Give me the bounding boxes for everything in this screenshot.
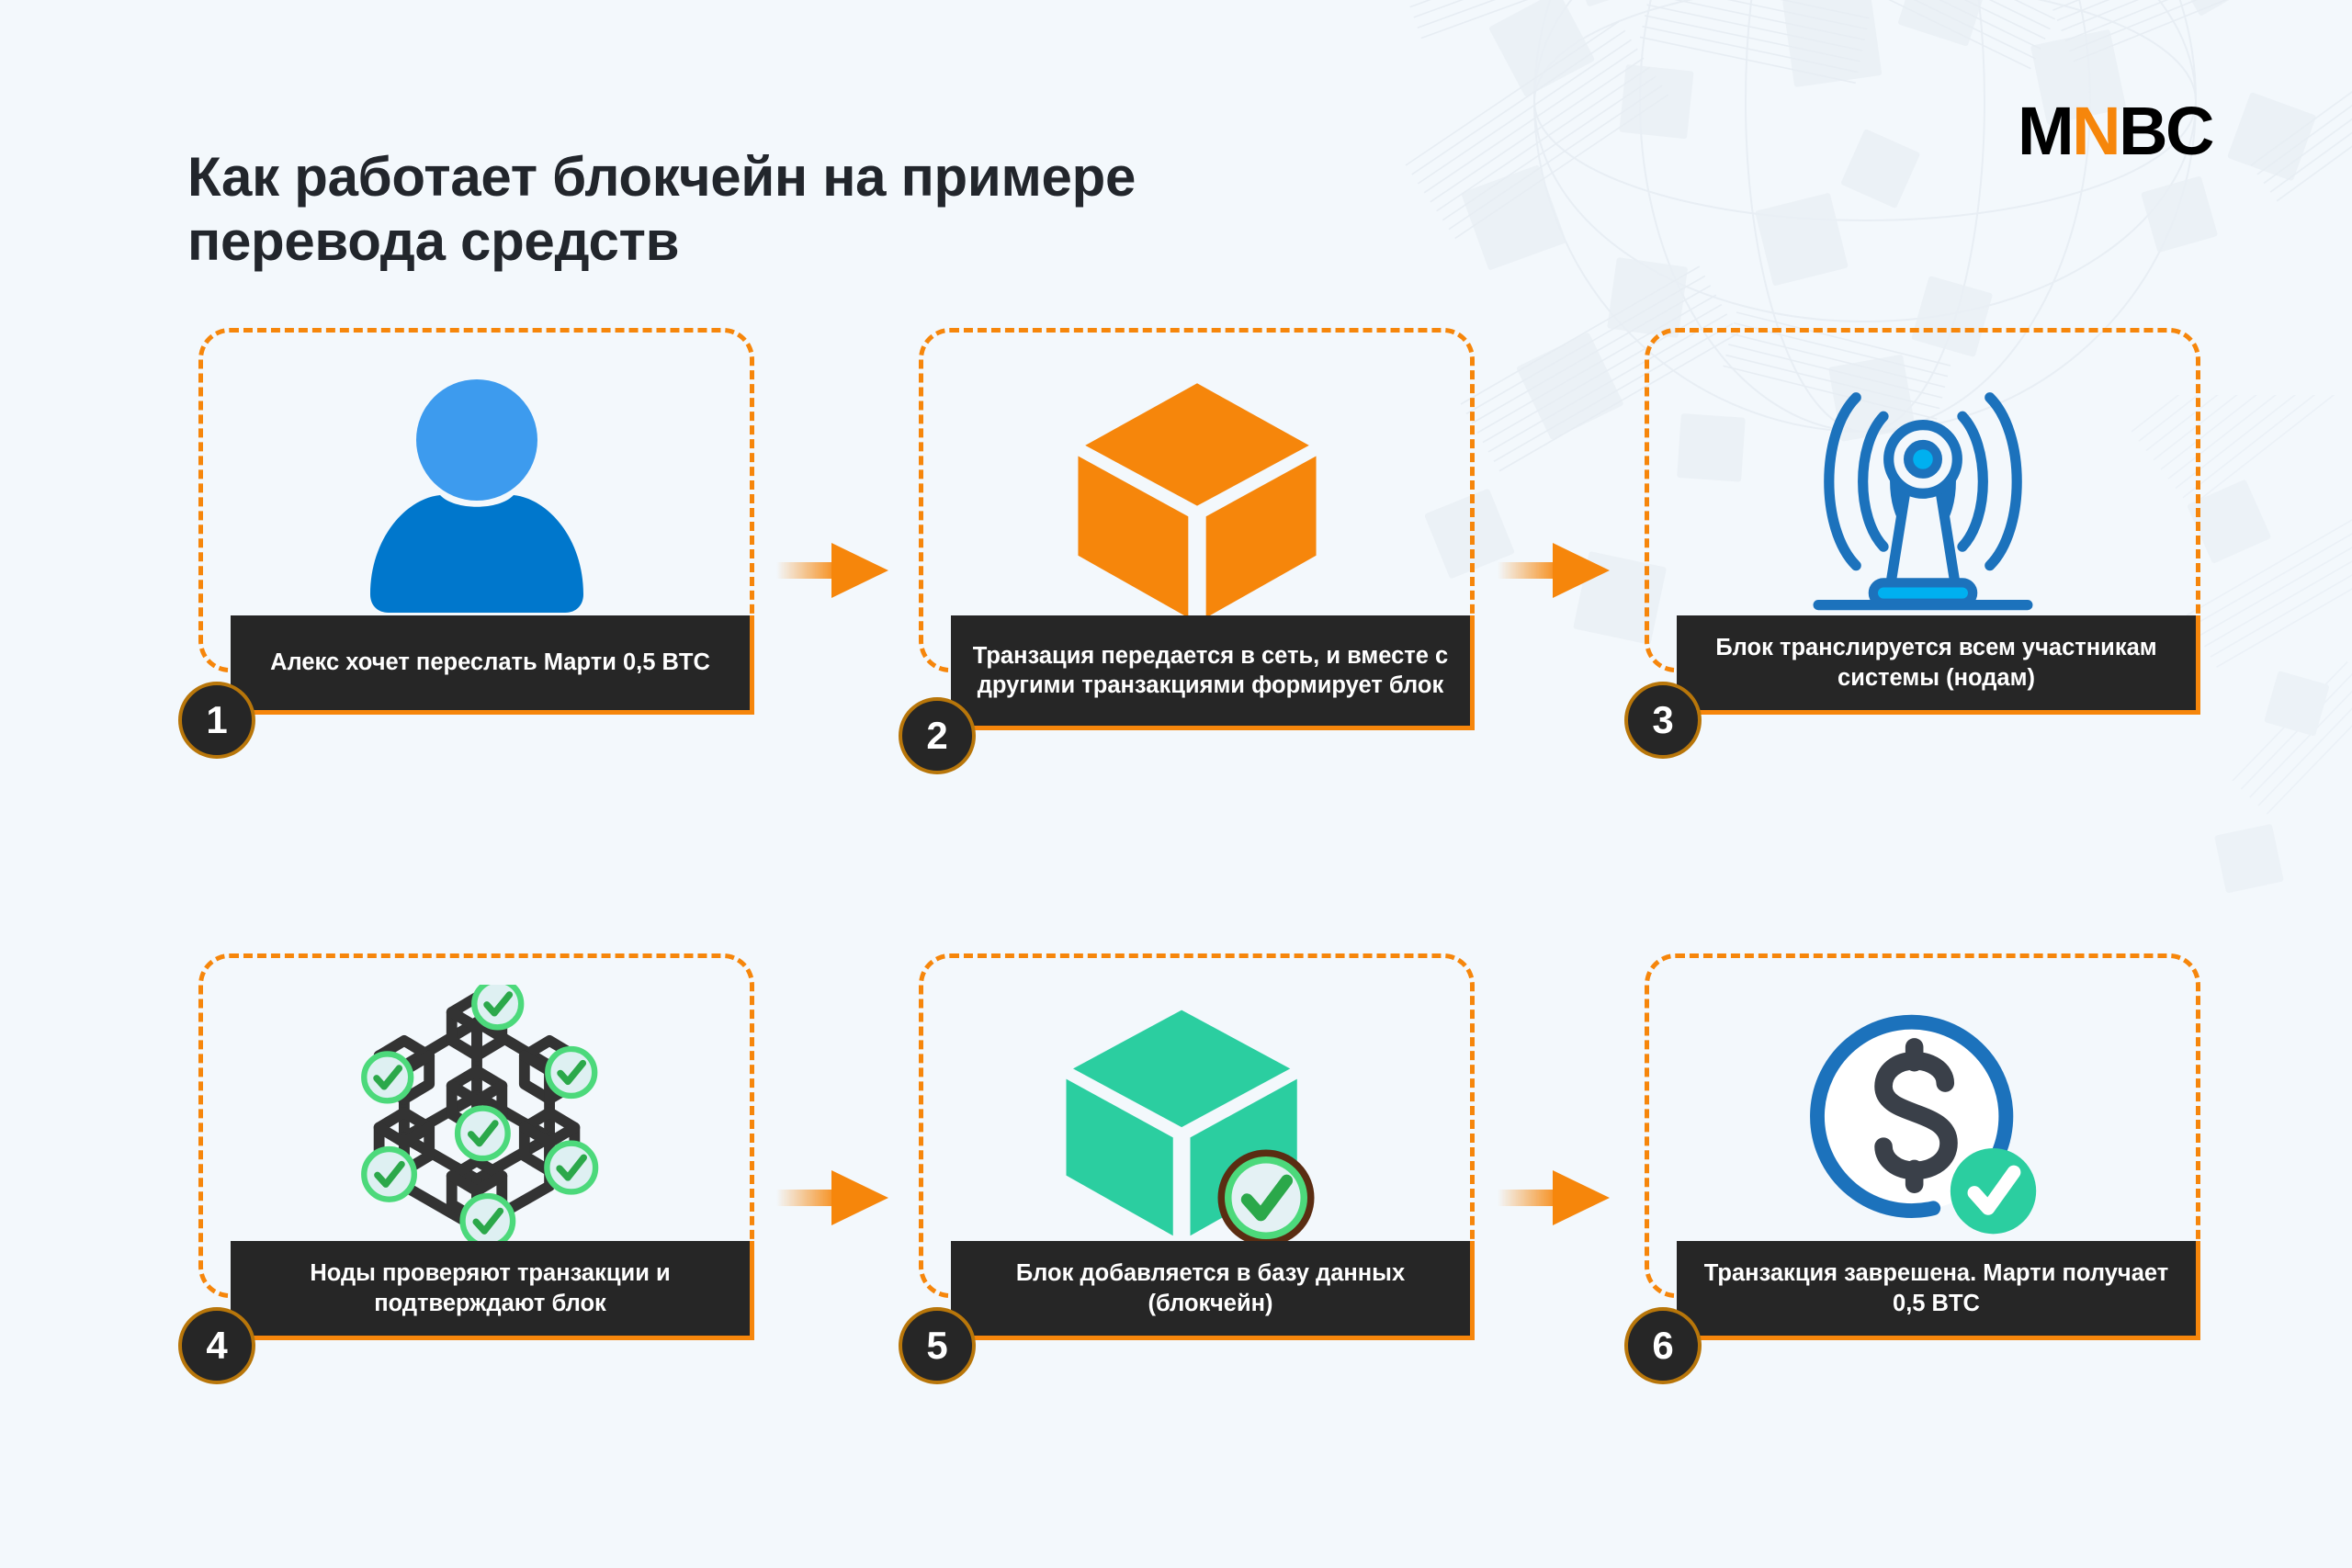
step-1: Алекс хочет переслать Марти 0,5 BTC 1 [198,328,754,715]
step-6-number: 6 [1624,1307,1702,1384]
dollar-complete-icon [1785,985,2061,1260]
arrow-2-3 [1498,537,1635,604]
step-2-caption: Транзация передается в сеть, и вместе с … [951,615,1475,730]
step-5: Блок добавляется в базу данных (блокчейн… [919,953,1475,1340]
step-4-caption: Ноды проверяют транзакции и подтверждают… [231,1241,754,1340]
green-cube-check-icon [1059,985,1335,1260]
step-2-number: 2 [899,697,976,774]
step-5-caption: Блок добавляется в базу данных (блокчейн… [951,1241,1475,1340]
arrow-4-5 [776,1165,914,1231]
step-6: Транзакция заврешена. Марти получает 0,5… [1645,953,2200,1340]
step-2: Транзация передается в сеть, и вместе с … [919,328,1475,730]
step-5-number: 5 [899,1307,976,1384]
step-3-caption: Блок транслируется всем участникам систе… [1677,615,2200,715]
step-6-caption: Транзакция заврешена. Марти получает 0,5… [1677,1241,2200,1340]
step-1-number: 1 [178,682,255,759]
person-icon [339,359,615,635]
orange-cube-icon [1059,359,1335,635]
step-4: Ноды проверяют транзакции и подтверждают… [198,953,754,1340]
arrow-5-6 [1498,1165,1635,1231]
step-1-caption: Алекс хочет переслать Марти 0,5 BTC [231,615,754,715]
step-3-number: 3 [1624,682,1702,759]
steps-grid: Алекс хочет переслать Марти 0,5 BTC 1 [0,0,2352,1568]
broadcast-tower-icon [1785,359,2061,635]
arrow-1-2 [776,537,914,604]
step-3: Блок транслируется всем участникам систе… [1645,328,2200,715]
node-network-icon [339,985,615,1260]
step-4-number: 4 [178,1307,255,1384]
